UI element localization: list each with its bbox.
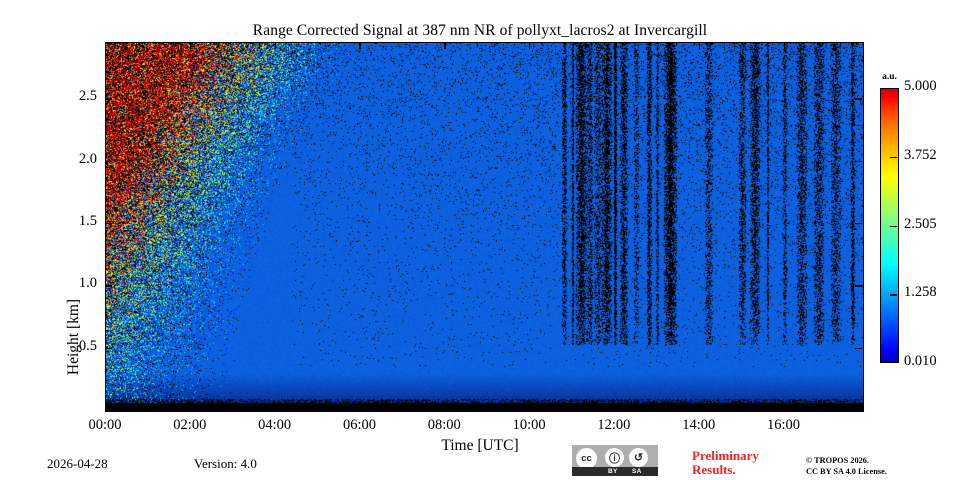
plot-area: [105, 42, 864, 412]
y-tick-right: [855, 223, 862, 224]
x-tick: [444, 403, 445, 410]
colorbar-tick-label: 0.010: [904, 353, 937, 370]
preliminary-notice: Preliminary Results.: [692, 449, 802, 477]
quicklook-figure: Range Corrected Signal at 387 nm NR of p…: [0, 0, 960, 480]
x-tick-top: [529, 42, 530, 49]
x-tick-top: [444, 42, 445, 49]
x-tick-top: [190, 42, 191, 49]
cc-sa-label: SA: [632, 468, 642, 475]
cc-icon: cc: [576, 448, 597, 469]
copyright-notice: © TROPOS 2026. CC BY SA 4.0 License.: [806, 456, 887, 477]
y-tick: [105, 348, 112, 349]
y-axis-title-wrap: Height [km]: [18, 130, 58, 330]
x-tick-label: 08:00: [409, 417, 479, 434]
x-tick-label: 16:00: [749, 417, 819, 434]
colorbar-tick-label: 2.505: [904, 216, 937, 233]
x-tick: [190, 403, 191, 410]
colorbar-tick-label: 3.752: [904, 147, 937, 164]
x-tick: [105, 403, 106, 410]
x-tick-top: [784, 42, 785, 49]
colorbar-tick: [890, 294, 897, 295]
x-tick: [699, 403, 700, 410]
y-tick-label: 2.5: [51, 88, 97, 105]
y-tick: [105, 223, 112, 224]
x-tick-label: 10:00: [494, 417, 564, 434]
y-tick: [105, 98, 112, 99]
x-tick-top: [105, 42, 106, 49]
x-axis-title: Time [UTC]: [0, 437, 960, 455]
y-tick: [105, 285, 112, 286]
x-tick-label: 06:00: [324, 417, 394, 434]
x-tick-top: [614, 42, 615, 49]
y-axis-title: Height [km]: [65, 237, 83, 437]
x-tick-label: 12:00: [579, 417, 649, 434]
y-tick-right: [855, 348, 862, 349]
page-title: Range Corrected Signal at 387 nm NR of p…: [0, 22, 960, 40]
y-tick-right: [855, 161, 862, 162]
cc-by-icon: ⓘ: [605, 448, 624, 467]
x-tick-top: [699, 42, 700, 49]
x-tick: [359, 403, 360, 410]
copyright-line-1: © TROPOS 2026.: [806, 456, 887, 467]
x-tick: [784, 403, 785, 410]
x-tick-label: 04:00: [240, 417, 310, 434]
x-tick-top: [275, 42, 276, 49]
colorbar-tick-label: 5.000: [904, 78, 937, 95]
y-tick-right: [855, 285, 862, 286]
x-tick: [529, 403, 530, 410]
colorbar-tick: [890, 226, 897, 227]
x-tick-label: 14:00: [664, 417, 734, 434]
colorbar-unit: a.u.: [880, 72, 899, 82]
x-tick: [614, 403, 615, 410]
x-tick-label: 02:00: [155, 417, 225, 434]
colorbar-tick-label: 1.258: [904, 284, 937, 301]
x-tick: [275, 403, 276, 410]
y-tick-right: [855, 98, 862, 99]
y-tick: [105, 161, 112, 162]
preliminary-line-2: Results.: [692, 463, 802, 477]
footer-date: 2026-04-28: [47, 456, 108, 472]
cc-badge-strip: BY SA: [572, 467, 658, 476]
heatmap-canvas: [106, 43, 863, 411]
footer-version: Version: 4.0: [194, 456, 257, 472]
preliminary-line-1: Preliminary: [692, 449, 802, 463]
copyright-line-2: CC BY SA 4.0 License.: [806, 467, 887, 478]
cc-license-badge[interactable]: cc ⓘ ↺ BY SA: [572, 445, 658, 476]
x-tick-top: [359, 42, 360, 49]
cc-sa-icon: ↺: [629, 448, 648, 467]
colorbar-tick: [890, 157, 897, 158]
cc-by-label: BY: [608, 468, 618, 475]
